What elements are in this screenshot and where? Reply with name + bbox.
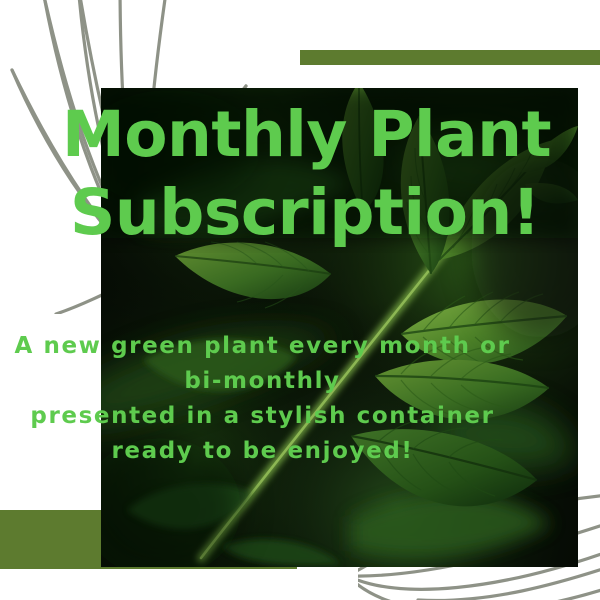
body-line-3: presented in a stylish container xyxy=(0,399,525,434)
body-copy: A new green plant every month or bi-mont… xyxy=(0,329,525,469)
body-line-4: ready to be enjoyed! xyxy=(0,434,525,469)
body-line-1: A new green plant every month or xyxy=(0,329,525,364)
headline-line-1: Monthly Plant xyxy=(62,96,600,174)
headline-line-2: Subscription! xyxy=(62,174,600,252)
accent-bar-top xyxy=(300,50,600,65)
page-title: Monthly Plant Subscription! xyxy=(0,96,600,252)
body-line-2: bi-monthly xyxy=(0,364,525,399)
poster-canvas: Monthly Plant Subscription! A new green … xyxy=(0,0,600,600)
